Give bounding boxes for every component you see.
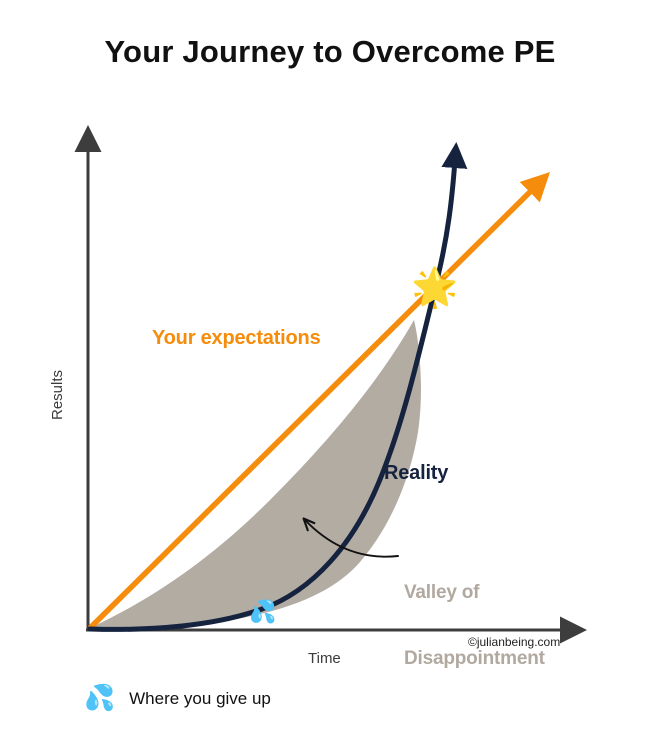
chart-canvas: Your Journey to Overcome PE <box>0 0 660 748</box>
legend-label: Where you give up <box>129 689 271 709</box>
legend: 💦 Where you give up <box>84 686 271 711</box>
expectations-label: Your expectations <box>152 327 321 350</box>
glowing-star-icon: 🌟 <box>411 269 458 307</box>
valley-label-line-1: Valley of <box>404 582 545 604</box>
sweat-droplets-icon: 💦 <box>84 686 115 711</box>
reality-label: Reality <box>384 462 448 485</box>
valley-of-disappointment-label: Valley of Disappointment <box>404 538 545 714</box>
sweat-droplets-icon: 💦 <box>249 601 276 623</box>
watermark: ©julianbeing.com <box>468 635 560 649</box>
y-axis-label: Results <box>49 370 66 420</box>
journey-chart-svg <box>0 0 660 748</box>
x-axis-label: Time <box>308 650 341 667</box>
valley-label-line-2: Disappointment <box>404 648 545 670</box>
